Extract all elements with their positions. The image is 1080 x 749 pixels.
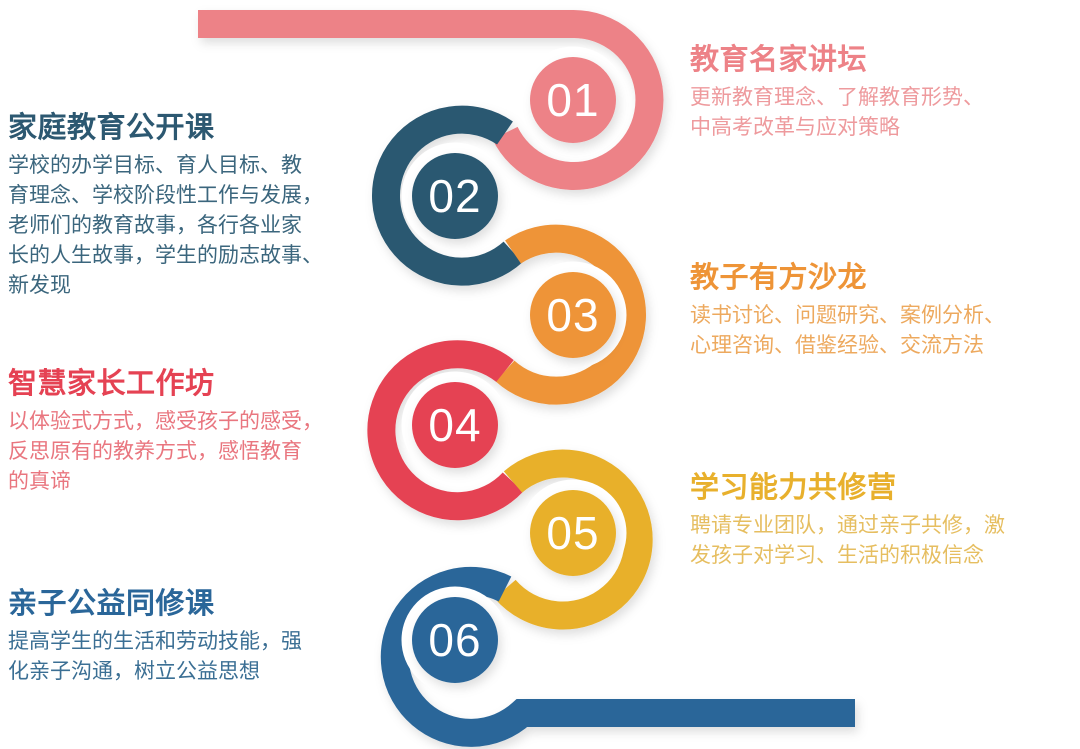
step-desc-02-line-3: 老师们的教育故事，各行各业家	[8, 214, 302, 237]
step-desc-04: 以体验式方式，感受孩子的感受， 反思原有的教养方式，感悟教育 的真谛	[8, 407, 386, 496]
step-desc-06-line-2: 化亲子沟通，树立公益思想	[8, 660, 260, 683]
badge-number-02: 02	[428, 173, 481, 219]
infographic-canvas: 01 02 03 04 05 06 教育名家讲坛 更新教育理念、了解教育形势、 …	[0, 0, 1080, 749]
step-desc-04-line-1: 以体验式方式，感受孩子的感受，	[8, 410, 323, 433]
step-title-01: 教育名家讲坛	[690, 44, 1065, 77]
step-desc-05: 聘请专业团队，通过亲子共修，激 发孩子对学习、生活的积极信念	[690, 511, 1065, 571]
step-title-03: 教子有方沙龙	[690, 262, 1065, 295]
step-title-04: 智慧家长工作坊	[8, 368, 386, 401]
step-desc-03-line-2: 心理咨询、借鉴经验、交流方法	[690, 334, 984, 357]
step-desc-03: 读书讨论、问题研究、案例分析、 心理咨询、借鉴经验、交流方法	[690, 301, 1065, 361]
step-desc-04-line-2: 反思原有的教养方式，感悟教育	[8, 440, 302, 463]
step-text-02: 家庭教育公开课 学校的办学目标、育人目标、教 育理念、学校阶段性工作与发展， 老…	[8, 112, 386, 300]
step-text-01: 教育名家讲坛 更新教育理念、了解教育形势、 中高考改革与应对策略	[690, 44, 1065, 143]
step-desc-02-line-1: 学校的办学目标、育人目标、教	[8, 154, 302, 177]
step-title-06: 亲子公益同修课	[8, 588, 386, 621]
step-desc-02-line-5: 新发现	[8, 274, 71, 297]
step-text-04: 智慧家长工作坊 以体验式方式，感受孩子的感受， 反思原有的教养方式，感悟教育 的…	[8, 368, 386, 497]
badge-number-03: 03	[546, 292, 599, 338]
step-desc-01-line-2: 中高考改革与应对策略	[690, 116, 900, 139]
step-text-06: 亲子公益同修课 提高学生的生活和劳动技能，强 化亲子沟通，树立公益思想	[8, 588, 386, 687]
step-text-05: 学习能力共修营 聘请专业团队，通过亲子共修，激 发孩子对学习、生活的积极信念	[690, 472, 1065, 571]
step-desc-06: 提高学生的生活和劳动技能，强 化亲子沟通，树立公益思想	[8, 627, 386, 687]
step-title-02: 家庭教育公开课	[8, 112, 386, 145]
step-desc-01-line-1: 更新教育理念、了解教育形势、	[690, 86, 984, 109]
step-text-03: 教子有方沙龙 读书讨论、问题研究、案例分析、 心理咨询、借鉴经验、交流方法	[690, 262, 1065, 361]
badge-number-05: 05	[546, 510, 599, 556]
badge-number-04: 04	[428, 402, 481, 448]
step-desc-04-line-3: 的真谛	[8, 470, 71, 493]
step-desc-03-line-1: 读书讨论、问题研究、案例分析、	[690, 304, 1005, 327]
step-desc-02-line-4: 长的人生故事，学生的励志故事、	[8, 244, 323, 267]
step-title-05: 学习能力共修营	[690, 472, 1065, 505]
step-desc-05-line-1: 聘请专业团队，通过亲子共修，激	[690, 514, 1005, 537]
badge-number-01: 01	[546, 77, 599, 123]
step-desc-06-line-1: 提高学生的生活和劳动技能，强	[8, 630, 302, 653]
step-desc-02-line-2: 育理念、学校阶段性工作与发展，	[8, 184, 323, 207]
badge-number-06: 06	[428, 617, 481, 663]
step-desc-05-line-2: 发孩子对学习、生活的积极信念	[690, 544, 984, 567]
step-desc-01: 更新教育理念、了解教育形势、 中高考改革与应对策略	[690, 83, 1065, 143]
step-desc-02: 学校的办学目标、育人目标、教 育理念、学校阶段性工作与发展， 老师们的教育故事，…	[8, 151, 386, 300]
